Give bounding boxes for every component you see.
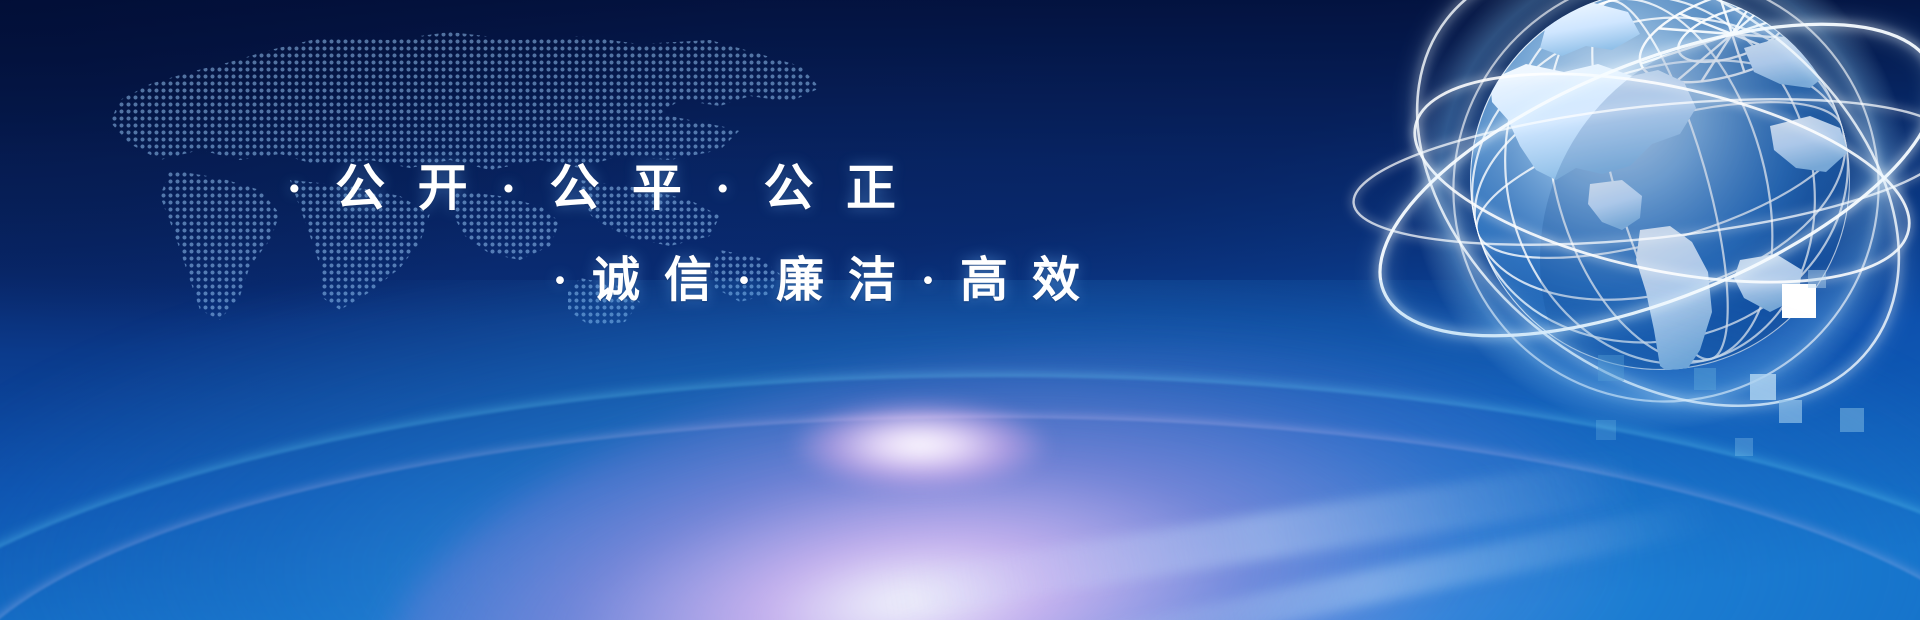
banner-root: · 公 开 · 公 平 · 公 正 · 诚 信 · 廉 洁 · 高 效 <box>0 0 1920 620</box>
headline-line-1: · 公 开 · 公 平 · 公 正 <box>286 148 906 220</box>
headline-line-2: · 诚 信 · 廉 洁 · 高 效 <box>552 240 1086 310</box>
light-wave-graphic <box>0 280 1920 620</box>
wave-hotspot <box>790 400 1050 490</box>
